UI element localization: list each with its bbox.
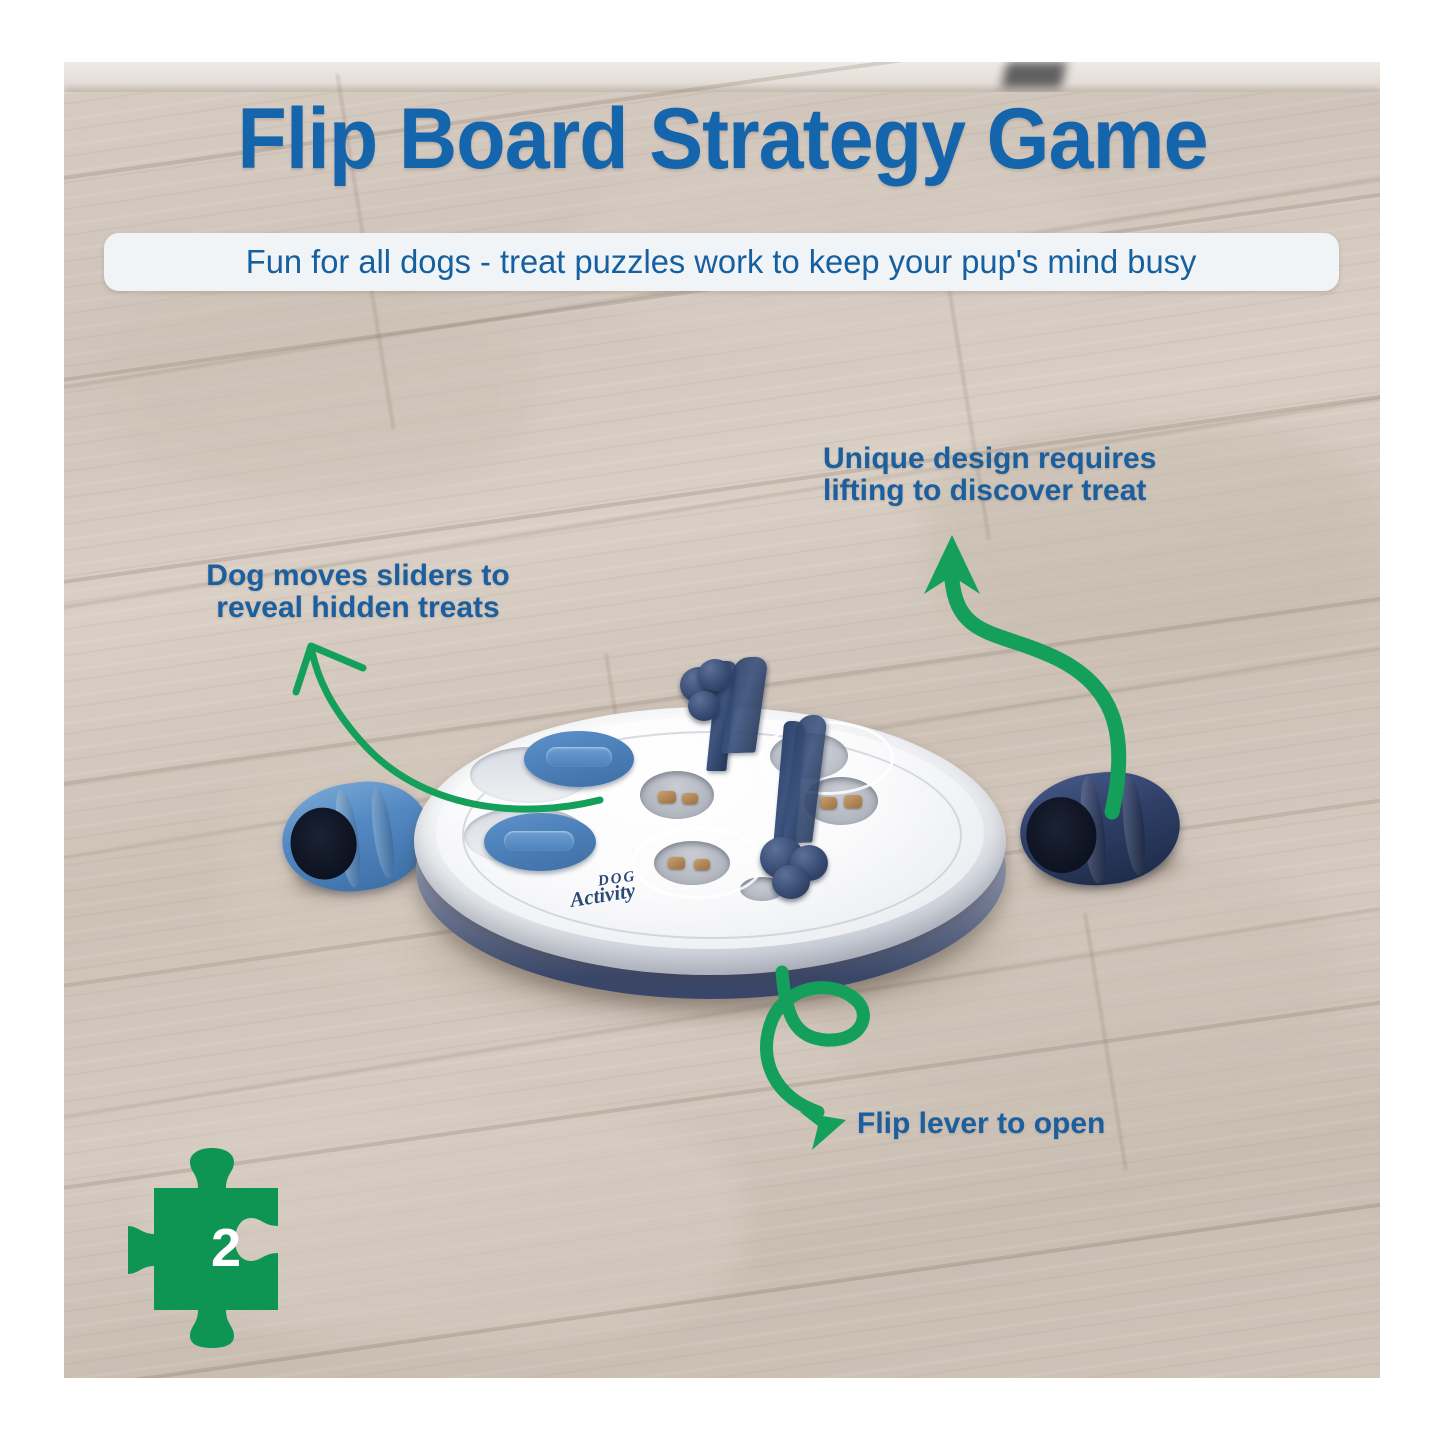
left-toy: [275, 773, 437, 901]
callout-lift: Unique design requires lifting to discov…: [823, 443, 1243, 508]
callout-slide-line1: Dog moves sliders to: [168, 560, 548, 592]
callout-lift-line1: Unique design requires: [823, 443, 1243, 475]
callout-flip-line1: Flip lever to open: [857, 1108, 1187, 1140]
treat-hole-1: [640, 771, 714, 819]
slider-top[interactable]: [524, 731, 634, 787]
callout-lift-line2: lifting to discover treat: [823, 475, 1243, 507]
callout-slide: Dog moves sliders to reveal hidden treat…: [168, 560, 548, 625]
callout-flip: Flip lever to open: [857, 1108, 1187, 1140]
right-toy: [1015, 765, 1186, 893]
step-badge: 2: [128, 1148, 318, 1348]
infographic-canvas: DOG Activity Flip Board Strategy Game Fu…: [0, 0, 1445, 1445]
page-title: Flip Board Strategy Game: [43, 96, 1401, 182]
callout-slide-line2: reveal hidden treats: [168, 592, 548, 624]
slider-bottom[interactable]: [484, 813, 596, 871]
subtitle-text: Fun for all dogs - treat puzzles work to…: [246, 243, 1196, 281]
step-badge-number: 2: [128, 1148, 318, 1348]
puzzle-board-product: DOG Activity: [392, 655, 1032, 1025]
subtitle-banner: Fun for all dogs - treat puzzles work to…: [104, 233, 1339, 291]
